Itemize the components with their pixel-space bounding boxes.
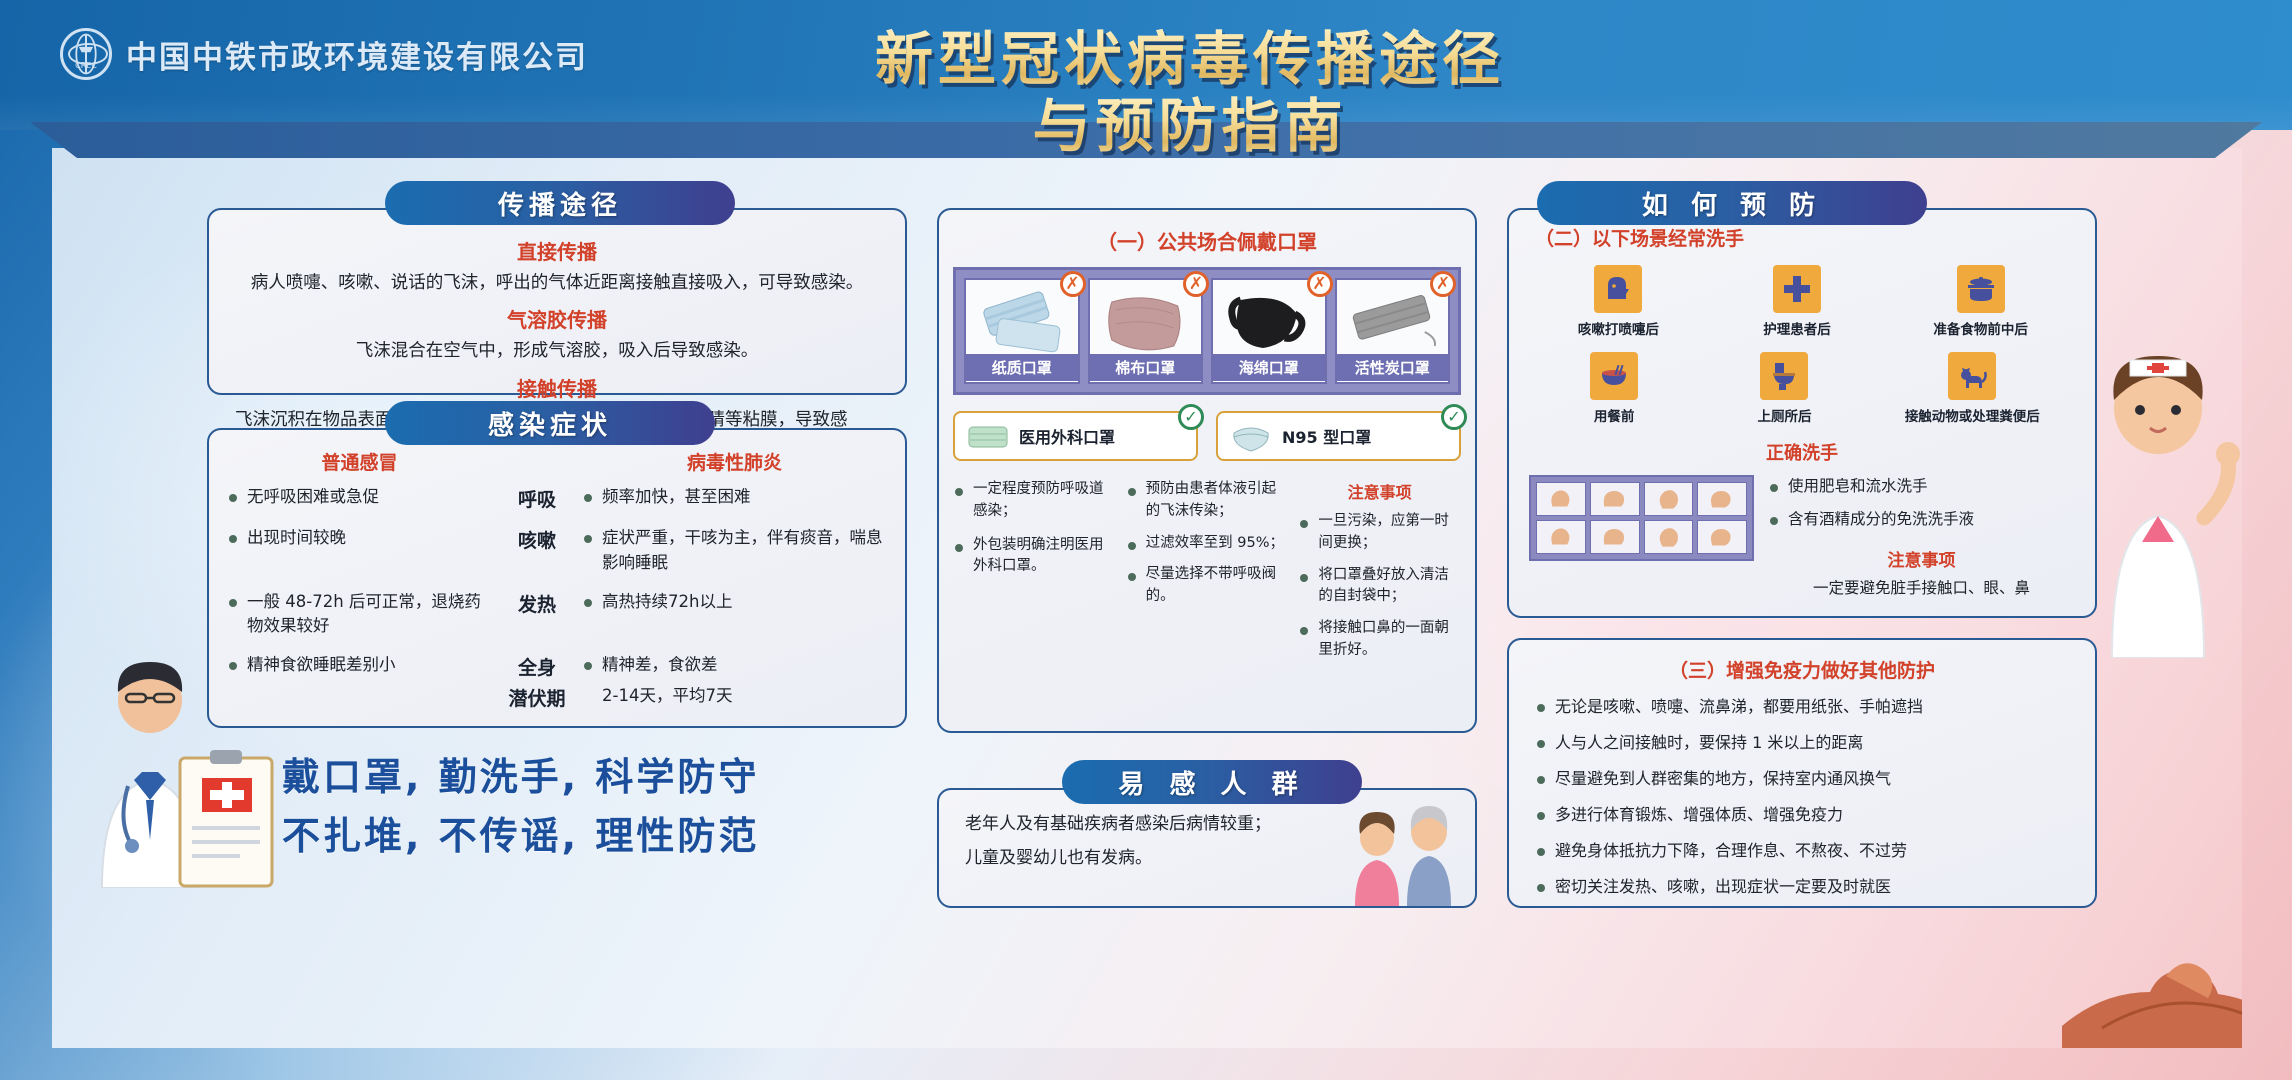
cross-glyph bbox=[1782, 274, 1812, 304]
medical-cross-icon bbox=[1773, 265, 1821, 313]
wash-scenario-1-label: 护理患者后 bbox=[1727, 318, 1867, 338]
cat-glyph bbox=[1956, 362, 1988, 390]
slogan-block: 戴口罩, 勤洗手, 科学防守 不扎堆, 不传谣, 理性防范 bbox=[282, 748, 759, 866]
correct-wash-item-1: 含有酒精成分的免洗洗手液 bbox=[1768, 508, 2075, 531]
correct-wash-item-0: 使用肥皂和流水洗手 bbox=[1768, 475, 2075, 498]
symptom-row-2-right: 高热持续72h以上 bbox=[582, 590, 887, 615]
symptom-row-3-label: 全身 bbox=[492, 653, 582, 680]
surgical-mask-photo-icon bbox=[966, 280, 1078, 354]
pot-glyph bbox=[1965, 275, 1997, 303]
bad-mask-2: ✗ 海绵口罩 bbox=[1211, 278, 1327, 384]
toilet-icon bbox=[1760, 352, 1808, 400]
wash-scenario-5: 接触动物或处理粪便后 bbox=[1885, 352, 2060, 425]
sponge-mask-photo-icon bbox=[1213, 280, 1325, 354]
hands-icon bbox=[1537, 483, 1585, 515]
cross-icon: ✗ bbox=[1307, 271, 1333, 297]
symptoms-col-left-head: 普通感冒 bbox=[227, 448, 492, 475]
title-line-2: 与预防指南 bbox=[760, 93, 1620, 160]
cough-head-glyph bbox=[1602, 273, 1634, 305]
cross-icon: ✗ bbox=[1060, 271, 1086, 297]
wash-scenario-4: 上厕所后 bbox=[1714, 352, 1854, 425]
symptoms-card: 普通感冒 病毒性肺炎 无呼吸困难或急促 呼吸 频率加快，甚至困难 出现时间较晚 … bbox=[207, 428, 907, 728]
transmission-item-0-text: 病人喷嚏、咳嗽、说话的飞沫，呼出的气体近距离接触直接吸入，可导致感染。 bbox=[235, 270, 879, 296]
handwash-step bbox=[1644, 482, 1694, 516]
wash-scenario-2: 准备食物前中后 bbox=[1906, 265, 2056, 338]
slogan-line-1: 戴口罩, 勤洗手, 科学防守 bbox=[282, 748, 759, 807]
page-title: 新型冠状病毒传播途径 与预防指南 bbox=[760, 26, 1620, 161]
wash-scenario-3: 用餐前 bbox=[1544, 352, 1684, 425]
symptom-row-0-label: 呼吸 bbox=[492, 485, 582, 512]
symptom-row-3-left: 精神食欲睡眠差别小 bbox=[227, 653, 492, 678]
symptom-row-2-label: 发热 bbox=[492, 590, 582, 617]
bad-mask-1: ✗ 棉布口罩 bbox=[1088, 278, 1204, 384]
hands-icon bbox=[1645, 521, 1693, 553]
hands-icon bbox=[1591, 483, 1639, 515]
symptom-row-0-right: 频率加快，甚至困难 bbox=[582, 485, 887, 510]
symptom-row-1-left: 出现时间较晚 bbox=[227, 526, 492, 551]
title-line-1: 新型冠状病毒传播途径 bbox=[760, 26, 1620, 93]
poster-root: CREC 中国中铁市政环境建设有限公司 新型冠状病毒传播途径 与预防指南 传播途… bbox=[0, 0, 2292, 1080]
bowl-glyph bbox=[1598, 363, 1630, 389]
section-header-symptoms: 感染症状 bbox=[385, 401, 715, 445]
handwash-steps-grid bbox=[1529, 475, 1754, 561]
paper-mask-icon bbox=[966, 280, 1078, 354]
transmission-item-0-head: 直接传播 bbox=[235, 236, 879, 265]
brand-header: CREC 中国中铁市政环境建设有限公司 bbox=[60, 28, 588, 80]
prevention-section3-head: （三）增强免疫力做好其他防护 bbox=[1535, 656, 2069, 683]
slogan-line-2: 不扎堆, 不传谣, 理性防范 bbox=[282, 807, 759, 866]
wash-scenario-2-label: 准备食物前中后 bbox=[1906, 318, 2056, 338]
svg-text:CREC: CREC bbox=[75, 61, 97, 70]
company-name: 中国中铁市政环境建设有限公司 bbox=[126, 32, 588, 77]
transmission-card: 直接传播 病人喷嚏、咳嗽、说话的飞沫，呼出的气体近距离接触直接吸入，可导致感染。… bbox=[207, 208, 907, 395]
mask-note-c1-1: 外包装明确注明医用外科口罩。 bbox=[953, 535, 1116, 579]
sponge-mask-icon bbox=[1213, 280, 1325, 354]
cooking-pot-icon bbox=[1957, 265, 2005, 313]
cross-icon: ✗ bbox=[1183, 271, 1209, 297]
transmission-item-1-text: 飞沫混合在空气中，形成气溶胶，吸入后导致感染。 bbox=[235, 338, 879, 364]
wash-notes-head: 注意事项 bbox=[1768, 546, 2075, 571]
prevention-section1-head: （一）公共场合佩戴口罩 bbox=[953, 226, 1461, 255]
mask-note-c3-0: 一旦污染，应第一时间更换； bbox=[1298, 511, 1461, 555]
immunity-item-3: 多进行体育锻炼、增强体质、增强免疫力 bbox=[1535, 803, 2069, 827]
good-mask-1-label: N95 型口罩 bbox=[1282, 424, 1371, 448]
rice-bowl-icon bbox=[1590, 352, 1638, 400]
mask-note-c1-0: 一定程度预防呼吸道感染； bbox=[953, 479, 1116, 523]
mask-note-c2-1: 过滤效率至到 95%； bbox=[1126, 533, 1289, 555]
poster-panel: 传播途径 直接传播 病人喷嚏、咳嗽、说话的飞沫，呼出的气体近距离接触直接吸入，可… bbox=[52, 148, 2242, 1048]
wash-scenario-0-label: 咳嗽打喷嚏后 bbox=[1548, 318, 1688, 338]
bad-mask-1-label: 棉布口罩 bbox=[1090, 354, 1202, 381]
good-mask-0: 医用外科口罩 ✓ bbox=[953, 411, 1198, 461]
n95-mask-icon bbox=[1228, 419, 1274, 453]
wash-scenario-0: 咳嗽打喷嚏后 bbox=[1548, 265, 1688, 338]
crec-logo-svg: CREC bbox=[63, 31, 109, 77]
bad-mask-3-label: 活性炭口罩 bbox=[1337, 354, 1449, 381]
bad-masks-grid: ✗ 纸质口罩 ✗ 棉布口罩 bbox=[953, 267, 1461, 395]
handwash-step bbox=[1536, 482, 1586, 516]
mask-card: （一）公共场合佩戴口罩 bbox=[937, 208, 1477, 733]
symptom-row-1-right: 症状严重，干咳为主，伴有痰音，喘息影响睡眠 bbox=[582, 526, 887, 576]
immunity-item-1: 人与人之间接触时，要保持 1 米以上的距离 bbox=[1535, 731, 2069, 755]
prevention-section2-head: （二）以下场景经常洗手 bbox=[1535, 224, 2075, 251]
mask-note-c2-0: 预防由患者体液引起的飞沫传染； bbox=[1126, 479, 1289, 523]
mask-notes-head: 注意事项 bbox=[1298, 479, 1461, 503]
child-and-elder-illustration bbox=[1329, 802, 1469, 906]
animal-cat-icon bbox=[1948, 352, 1996, 400]
hands-icon bbox=[1645, 483, 1693, 515]
immunity-item-5: 密切关注发热、咳嗽，出现症状一定要及时就医 bbox=[1535, 875, 2069, 899]
immunity-card: （三）增强免疫力做好其他防护 无论是咳嗽、喷嚏、流鼻涕，都要用纸张、手帕遮挡 人… bbox=[1507, 638, 2097, 908]
crec-logo-icon: CREC bbox=[60, 28, 112, 80]
handwash-step bbox=[1536, 520, 1586, 554]
section-header-susceptible: 易 感 人 群 bbox=[1062, 760, 1362, 804]
good-mask-1: N95 型口罩 ✓ bbox=[1216, 411, 1461, 461]
handwash-step bbox=[1697, 482, 1747, 516]
symptoms-col-right-head: 病毒性肺炎 bbox=[582, 448, 887, 475]
handwash-step bbox=[1590, 520, 1640, 554]
symptom-row-4-right: 2-14天，平均7天 bbox=[582, 684, 887, 709]
check-icon: ✓ bbox=[1441, 404, 1467, 430]
hands-icon bbox=[1591, 521, 1639, 553]
mask-note-c3-2: 将接触口鼻的一面朝里折好。 bbox=[1298, 618, 1461, 662]
check-icon: ✓ bbox=[1178, 404, 1204, 430]
correct-wash-head: 正确洗手 bbox=[1529, 439, 2075, 465]
handwash-card: （二）以下场景经常洗手 咳嗽打喷嚏后 bbox=[1507, 208, 2097, 618]
transmission-item-2-head: 接触传播 bbox=[235, 373, 879, 402]
susceptible-card: 老年人及有基础疾病者感染后病情较重； 儿童及婴幼儿也有发病。 bbox=[937, 788, 1477, 908]
cough-head-icon bbox=[1594, 265, 1642, 313]
wash-scenario-1: 护理患者后 bbox=[1727, 265, 1867, 338]
mask-note-c3-1: 将口罩叠好放入清洁的自封袋中； bbox=[1298, 565, 1461, 609]
hands-icon bbox=[1698, 483, 1746, 515]
immunity-item-0: 无论是咳嗽、喷嚏、流鼻涕，都要用纸张、手帕遮挡 bbox=[1535, 695, 2069, 719]
cross-icon: ✗ bbox=[1430, 271, 1456, 297]
handwash-step bbox=[1590, 482, 1640, 516]
wash-scenario-4-label: 上厕所后 bbox=[1714, 405, 1854, 425]
section-header-prevention: 如 何 预 防 bbox=[1537, 181, 1927, 225]
clipboard-illustration bbox=[172, 748, 282, 893]
symptom-row-4-label: 潜伏期 bbox=[492, 684, 582, 711]
symptom-row-2-left: 一般 48-72h 后可正常，退烧药物效果较好 bbox=[227, 590, 492, 640]
mask-note-c2-2: 尽量选择不带呼吸阀的。 bbox=[1126, 564, 1289, 608]
surgical-mask-icon bbox=[965, 419, 1011, 453]
handshake-illustration bbox=[2062, 908, 2242, 1048]
immunity-item-4: 避免身体抵抗力下降，合理作息、不熬夜、不过劳 bbox=[1535, 839, 2069, 863]
handwash-step bbox=[1697, 520, 1747, 554]
wash-notes-text: 一定要避免脏手接触口、眼、鼻 bbox=[1768, 577, 2075, 600]
bad-mask-0: ✗ 纸质口罩 bbox=[964, 278, 1080, 384]
hands-icon bbox=[1698, 521, 1746, 553]
hands-icon bbox=[1537, 521, 1585, 553]
transmission-item-1-head: 气溶胶传播 bbox=[235, 304, 879, 333]
handwash-step bbox=[1644, 520, 1694, 554]
bad-mask-3: ✗ 活性炭口罩 bbox=[1335, 278, 1451, 384]
symptom-row-3-right: 精神差，食欲差 bbox=[582, 653, 887, 678]
symptom-row-0-left: 无呼吸困难或急促 bbox=[227, 485, 492, 510]
wash-scenario-3-label: 用餐前 bbox=[1544, 405, 1684, 425]
bad-mask-2-label: 海绵口罩 bbox=[1213, 354, 1325, 381]
wash-scenario-5-label: 接触动物或处理粪便后 bbox=[1885, 405, 2060, 425]
immunity-item-2: 尽量避免到人群密集的地方，保持室内通风换气 bbox=[1535, 767, 2069, 791]
nurse-illustration bbox=[2072, 338, 2242, 658]
symptom-row-1-label: 咳嗽 bbox=[492, 526, 582, 553]
bad-mask-0-label: 纸质口罩 bbox=[966, 354, 1078, 381]
toilet-glyph bbox=[1771, 361, 1797, 391]
section-header-transmission: 传播途径 bbox=[385, 181, 735, 225]
good-mask-0-label: 医用外科口罩 bbox=[1019, 424, 1115, 448]
